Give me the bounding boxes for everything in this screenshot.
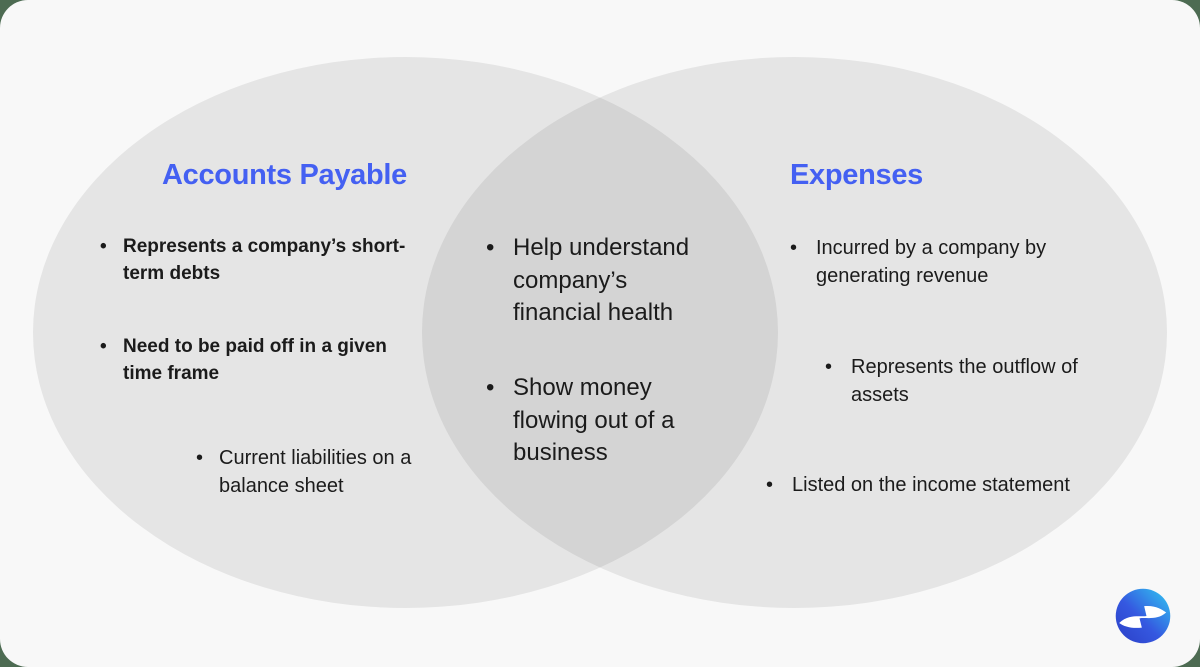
bullet-list-intersection: • Help understand company’s financial he… bbox=[486, 232, 716, 470]
list-item: • Help understand company’s financial he… bbox=[486, 232, 716, 330]
list-item: • Need to be paid off in a given time fr… bbox=[100, 334, 420, 388]
lightning-bolt-logo bbox=[1114, 587, 1172, 645]
diagram-canvas: Accounts Payable • Represents a company’… bbox=[0, 0, 1200, 667]
list-item: • Incurred by a company by generating re… bbox=[790, 234, 1112, 291]
venn-set-expenses: Expenses • Incurred by a company by gene… bbox=[790, 160, 1112, 500]
bullet-icon: • bbox=[790, 234, 797, 262]
list-item: • Listed on the income statement bbox=[766, 471, 1112, 499]
list-item-text: Listed on the income statement bbox=[792, 471, 1112, 499]
list-item-text: Help understand company’s financial heal… bbox=[513, 232, 716, 330]
bullet-icon: • bbox=[486, 232, 494, 265]
set-title-expenses: Expenses bbox=[790, 160, 1112, 192]
list-item: • Represents the outflow of assets bbox=[825, 353, 1112, 410]
bullet-icon: • bbox=[766, 471, 773, 499]
bullet-list-accounts-payable: • Represents a company’s short-term debt… bbox=[100, 234, 420, 501]
logo-circle bbox=[1116, 589, 1171, 644]
set-title-accounts-payable: Accounts Payable bbox=[100, 160, 420, 192]
venn-set-accounts-payable: Accounts Payable • Represents a company’… bbox=[100, 160, 420, 501]
bullet-list-expenses: • Incurred by a company by generating re… bbox=[790, 234, 1112, 500]
list-item-text: Show money flowing out of a business bbox=[513, 372, 716, 470]
list-item-text: Incurred by a company by generating reve… bbox=[816, 234, 1112, 291]
list-item: • Represents a company’s short-term debt… bbox=[100, 234, 420, 288]
venn-intersection: • Help understand company’s financial he… bbox=[486, 232, 716, 512]
list-item-text: Need to be paid off in a given time fram… bbox=[123, 334, 420, 388]
bullet-icon: • bbox=[100, 334, 107, 361]
list-item: • Show money flowing out of a business bbox=[486, 372, 716, 470]
bullet-icon: • bbox=[825, 353, 832, 381]
list-item: • Current liabilities on a balance sheet bbox=[196, 444, 420, 501]
bullet-icon: • bbox=[486, 372, 494, 405]
bullet-icon: • bbox=[100, 234, 107, 261]
list-item-text: Represents the outflow of assets bbox=[851, 353, 1112, 410]
bullet-icon: • bbox=[196, 444, 203, 472]
list-item-text: Current liabilities on a balance sheet bbox=[219, 444, 420, 501]
list-item-text: Represents a company’s short-term debts bbox=[123, 234, 420, 288]
